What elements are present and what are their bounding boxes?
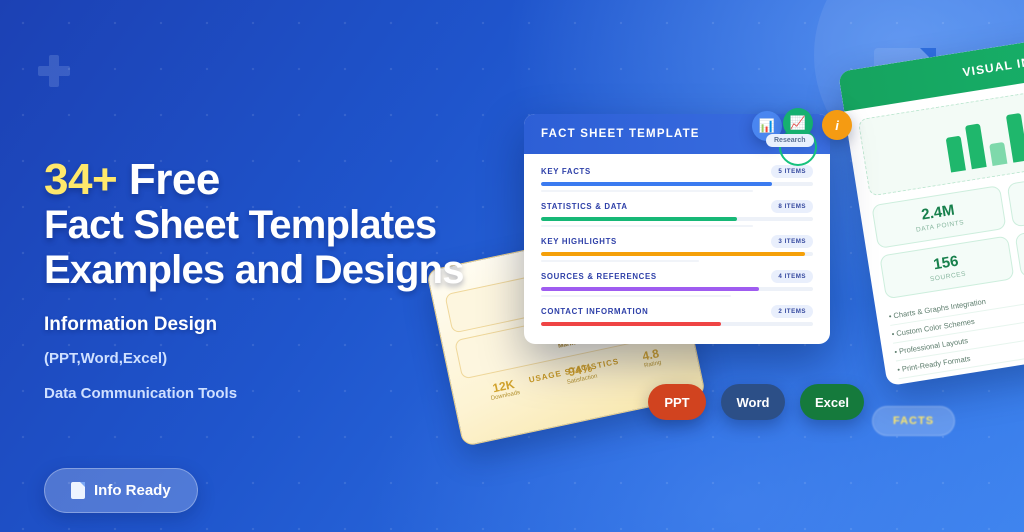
headline-line-3: Examples and Designs <box>44 248 564 293</box>
fact-sheet-row[interactable]: CONTACT INFORMATION 2 ITEMS <box>541 305 813 326</box>
fact-sheet-row[interactable]: KEY HIGHLIGHTS 3 ITEMS <box>541 235 813 262</box>
row-placeholder-line <box>541 295 731 298</box>
format-pill-group: PPT Word Excel <box>648 384 864 420</box>
headline-free-word: Free <box>129 155 220 204</box>
row-progress-fill <box>541 322 721 326</box>
research-tooltip: Research <box>766 134 814 147</box>
row-progress-track <box>541 252 813 256</box>
row-progress-fill <box>541 217 737 221</box>
row-progress-track <box>541 287 813 291</box>
format-pill-label: Word <box>737 395 770 410</box>
plus-decoration-icon <box>38 55 70 87</box>
chart-bar <box>965 124 987 169</box>
subtitle-data-communication: Data Communication Tools <box>44 385 564 402</box>
subtitle-information-design: Information Design <box>44 314 564 336</box>
row-placeholder-line <box>541 190 753 193</box>
info-ready-button[interactable]: Info Ready <box>44 468 198 513</box>
row-progress-track <box>541 217 813 221</box>
row-progress-fill <box>541 182 772 186</box>
hero-banner: 34+ Free Fact Sheet Templates Examples a… <box>0 0 1024 532</box>
format-pill-excel[interactable]: Excel <box>800 384 864 420</box>
format-pill-label: PPT <box>664 395 689 410</box>
info-glyph: i <box>835 118 839 133</box>
row-placeholder-line <box>541 260 699 263</box>
chart-bar <box>945 136 965 173</box>
row-item-count-badge: 3 ITEMS <box>771 235 813 248</box>
facts-badge: FACTS <box>872 406 955 436</box>
format-pill-ppt[interactable]: PPT <box>648 384 706 420</box>
info-icon[interactable]: i <box>822 110 852 140</box>
row-progress-fill <box>541 287 759 291</box>
chart-bar <box>1005 113 1024 163</box>
fact-sheet-row[interactable]: SOURCES & REFERENCES 4 ITEMS <box>541 270 813 297</box>
headline-line-2: Fact Sheet Templates <box>44 203 564 248</box>
row-item-count-badge: 5 ITEMS <box>771 165 813 178</box>
hero-text-block: 34+ Free Fact Sheet Templates Examples a… <box>44 158 564 402</box>
fact-sheet-row[interactable]: KEY FACTS 5 ITEMS <box>541 165 813 192</box>
visual-infographic-card[interactable]: VISUAL INFOGRAPHIC 2.4M DATA POINTS 87% … <box>838 27 1024 386</box>
row-item-count-badge: 8 ITEMS <box>771 200 813 213</box>
row-placeholder-line <box>541 225 753 228</box>
row-progress-track <box>541 182 813 186</box>
document-icon <box>71 482 85 499</box>
headline-count: 34+ <box>44 155 117 204</box>
format-pill-word[interactable]: Word <box>721 384 785 420</box>
info-ready-label: Info Ready <box>94 482 171 499</box>
format-pill-label: Excel <box>815 395 849 410</box>
chart-bar <box>989 142 1007 166</box>
trending-chart-glyph: 📈 <box>790 115 806 131</box>
row-item-count-badge: 4 ITEMS <box>771 270 813 283</box>
infographic-body: 2.4M DATA POINTS 87% ACCURACY RATE 156 S… <box>844 66 1024 386</box>
row-progress-fill <box>541 252 805 256</box>
fact-sheet-rows: KEY FACTS 5 ITEMS STATISTICS & DATA 8 IT… <box>524 154 830 326</box>
stat-value: 87% <box>1012 173 1024 208</box>
row-item-count-badge: 2 ITEMS <box>771 305 813 318</box>
stat-value: 24h <box>1020 224 1024 259</box>
bar-chart-glyph: 📊 <box>759 118 775 134</box>
subtitle-formats: (PPT,Word,Excel) <box>44 350 564 367</box>
row-progress-track <box>541 322 813 326</box>
fact-sheet-row[interactable]: STATISTICS & DATA 8 ITEMS <box>541 200 813 227</box>
headline-line-1: 34+ Free <box>44 158 564 203</box>
